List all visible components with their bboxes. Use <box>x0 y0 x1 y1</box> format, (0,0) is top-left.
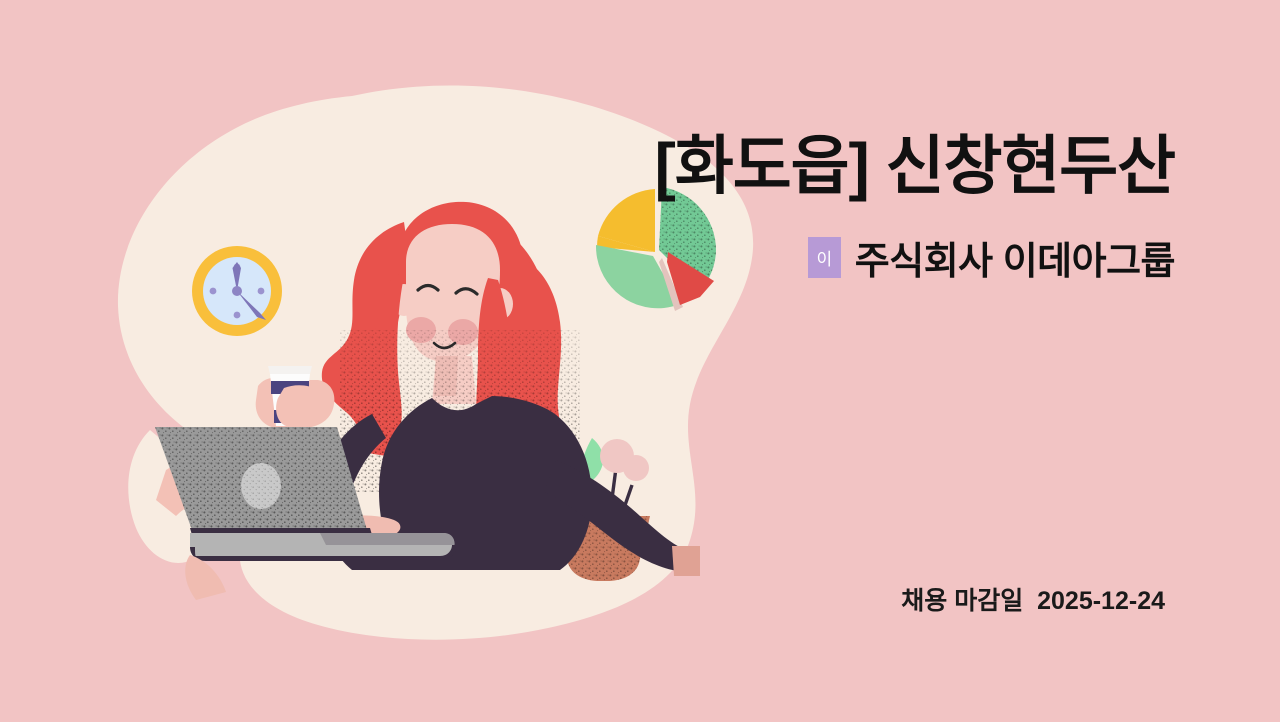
wall-clock <box>192 246 282 336</box>
clock-center <box>232 286 242 296</box>
company-badge: 이 <box>808 237 841 278</box>
company-row: 이 주식회사 이데아그룹 <box>808 230 1175 285</box>
deadline-text: 채용 마감일 2025-12-24 <box>0 581 1165 617</box>
clock-dot-6 <box>234 312 241 319</box>
page-title: [화도읍] 신창현두산 <box>0 133 1175 200</box>
flower-head-small <box>623 455 649 481</box>
clock-dot-3 <box>258 288 265 295</box>
hand-right <box>672 546 700 576</box>
laptop-deck-shadow <box>320 533 454 545</box>
fingers-over-cup <box>276 385 327 428</box>
job-banner: [화도읍] 신창현두산 이 주식회사 이데아그룹 채용 마감일 2025-12-… <box>0 0 1280 722</box>
clock-dot-9 <box>210 288 217 295</box>
company-name: 주식회사 이데아그룹 <box>855 230 1175 285</box>
cup-lid <box>268 366 312 374</box>
